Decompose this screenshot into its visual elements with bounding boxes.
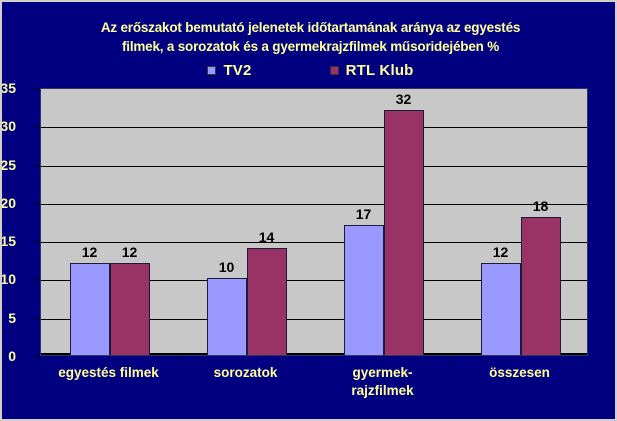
x-category-line: egyestés filmek xyxy=(40,364,177,382)
y-tick-label-20: 20 xyxy=(0,195,23,211)
x-category-line: rajzfilmek xyxy=(314,382,451,400)
x-tick-mark-3 xyxy=(451,356,452,361)
y-tick-label-35: 35 xyxy=(0,80,23,96)
bar-wrap-rtl: 14 xyxy=(247,89,287,355)
bar-value-label: 10 xyxy=(207,259,247,275)
bar-group-osszesen: 12 18 xyxy=(452,89,589,355)
bar-group-egyestes-filmek: 12 12 xyxy=(41,89,178,355)
bar-value-label: 17 xyxy=(344,206,384,222)
bar-rtl-klub-osszesen[interactable] xyxy=(521,217,561,355)
bar-wrap-rtl: 32 xyxy=(384,89,424,355)
bar-tv2-egyestes-filmek[interactable] xyxy=(70,263,110,355)
chart-legend: TV2 RTL Klub xyxy=(2,62,617,79)
bar-tv2-gyermekrajzfilmek[interactable] xyxy=(344,225,384,355)
x-category-line: összesen xyxy=(451,364,588,382)
plot-area: 12 12 10 14 17 xyxy=(40,88,588,356)
chart-title: Az erőszakot bemutató jelenetek időtarta… xyxy=(2,18,617,56)
y-tick-label-0: 0 xyxy=(0,348,23,364)
bar-value-label: 14 xyxy=(247,229,287,245)
bar-wrap-rtl: 18 xyxy=(521,89,561,355)
chart-title-line-2: filmek, a sorozatok és a gyermekrajzfilm… xyxy=(2,37,617,56)
x-tick-mark-2 xyxy=(314,356,315,361)
bar-wrap-tv2: 12 xyxy=(481,89,521,355)
bar-group-gyermekrajzfilmek: 17 32 xyxy=(315,89,452,355)
bar-value-label: 12 xyxy=(110,244,150,260)
x-category-line: gyermek- xyxy=(314,364,451,382)
bar-tv2-osszesen[interactable] xyxy=(481,263,521,355)
bar-rtl-klub-gyermekrajzfilmek[interactable] xyxy=(384,110,424,355)
bar-value-label: 32 xyxy=(384,91,424,107)
legend-item-tv2[interactable]: TV2 xyxy=(207,62,251,79)
bar-rtl-klub-sorozatok[interactable] xyxy=(247,248,287,355)
y-tick-label-15: 15 xyxy=(0,233,23,249)
x-category-line: sorozatok xyxy=(177,364,314,382)
bar-tv2-sorozatok[interactable] xyxy=(207,278,247,355)
y-tick-label-25: 25 xyxy=(0,157,23,173)
x-tick-mark-1 xyxy=(177,356,178,361)
bar-value-label: 12 xyxy=(70,244,110,260)
chart-container: Az erőszakot bemutató jelenetek időtarta… xyxy=(0,0,617,421)
chart-title-line-1: Az erőszakot bemutató jelenetek időtarta… xyxy=(2,18,617,37)
y-tick-label-10: 10 xyxy=(0,271,23,287)
bar-value-label: 18 xyxy=(521,198,561,214)
x-category-label-gyermekrajzfilmek: gyermek- rajzfilmek xyxy=(314,364,451,400)
x-category-label-sorozatok: sorozatok xyxy=(177,364,314,382)
bar-group-sorozatok: 10 14 xyxy=(178,89,315,355)
bar-wrap-rtl: 12 xyxy=(110,89,150,355)
legend-square-icon xyxy=(207,66,216,75)
y-tick-mark-0 xyxy=(34,356,40,357)
bar-value-label: 12 xyxy=(481,244,521,260)
legend-label-tv2: TV2 xyxy=(223,62,251,79)
legend-label-rtl-klub: RTL Klub xyxy=(346,62,414,79)
x-category-label-egyestes-filmek: egyestés filmek xyxy=(40,364,177,382)
x-category-label-osszesen: összesen xyxy=(451,364,588,382)
bar-rtl-klub-egyestes-filmek[interactable] xyxy=(110,263,150,355)
legend-square-icon xyxy=(330,66,339,75)
bar-wrap-tv2: 12 xyxy=(70,89,110,355)
legend-item-rtl-klub[interactable]: RTL Klub xyxy=(330,62,414,79)
bar-wrap-tv2: 17 xyxy=(344,89,384,355)
y-tick-label-5: 5 xyxy=(0,310,23,326)
y-tick-label-30: 30 xyxy=(0,118,23,134)
bar-wrap-tv2: 10 xyxy=(207,89,247,355)
